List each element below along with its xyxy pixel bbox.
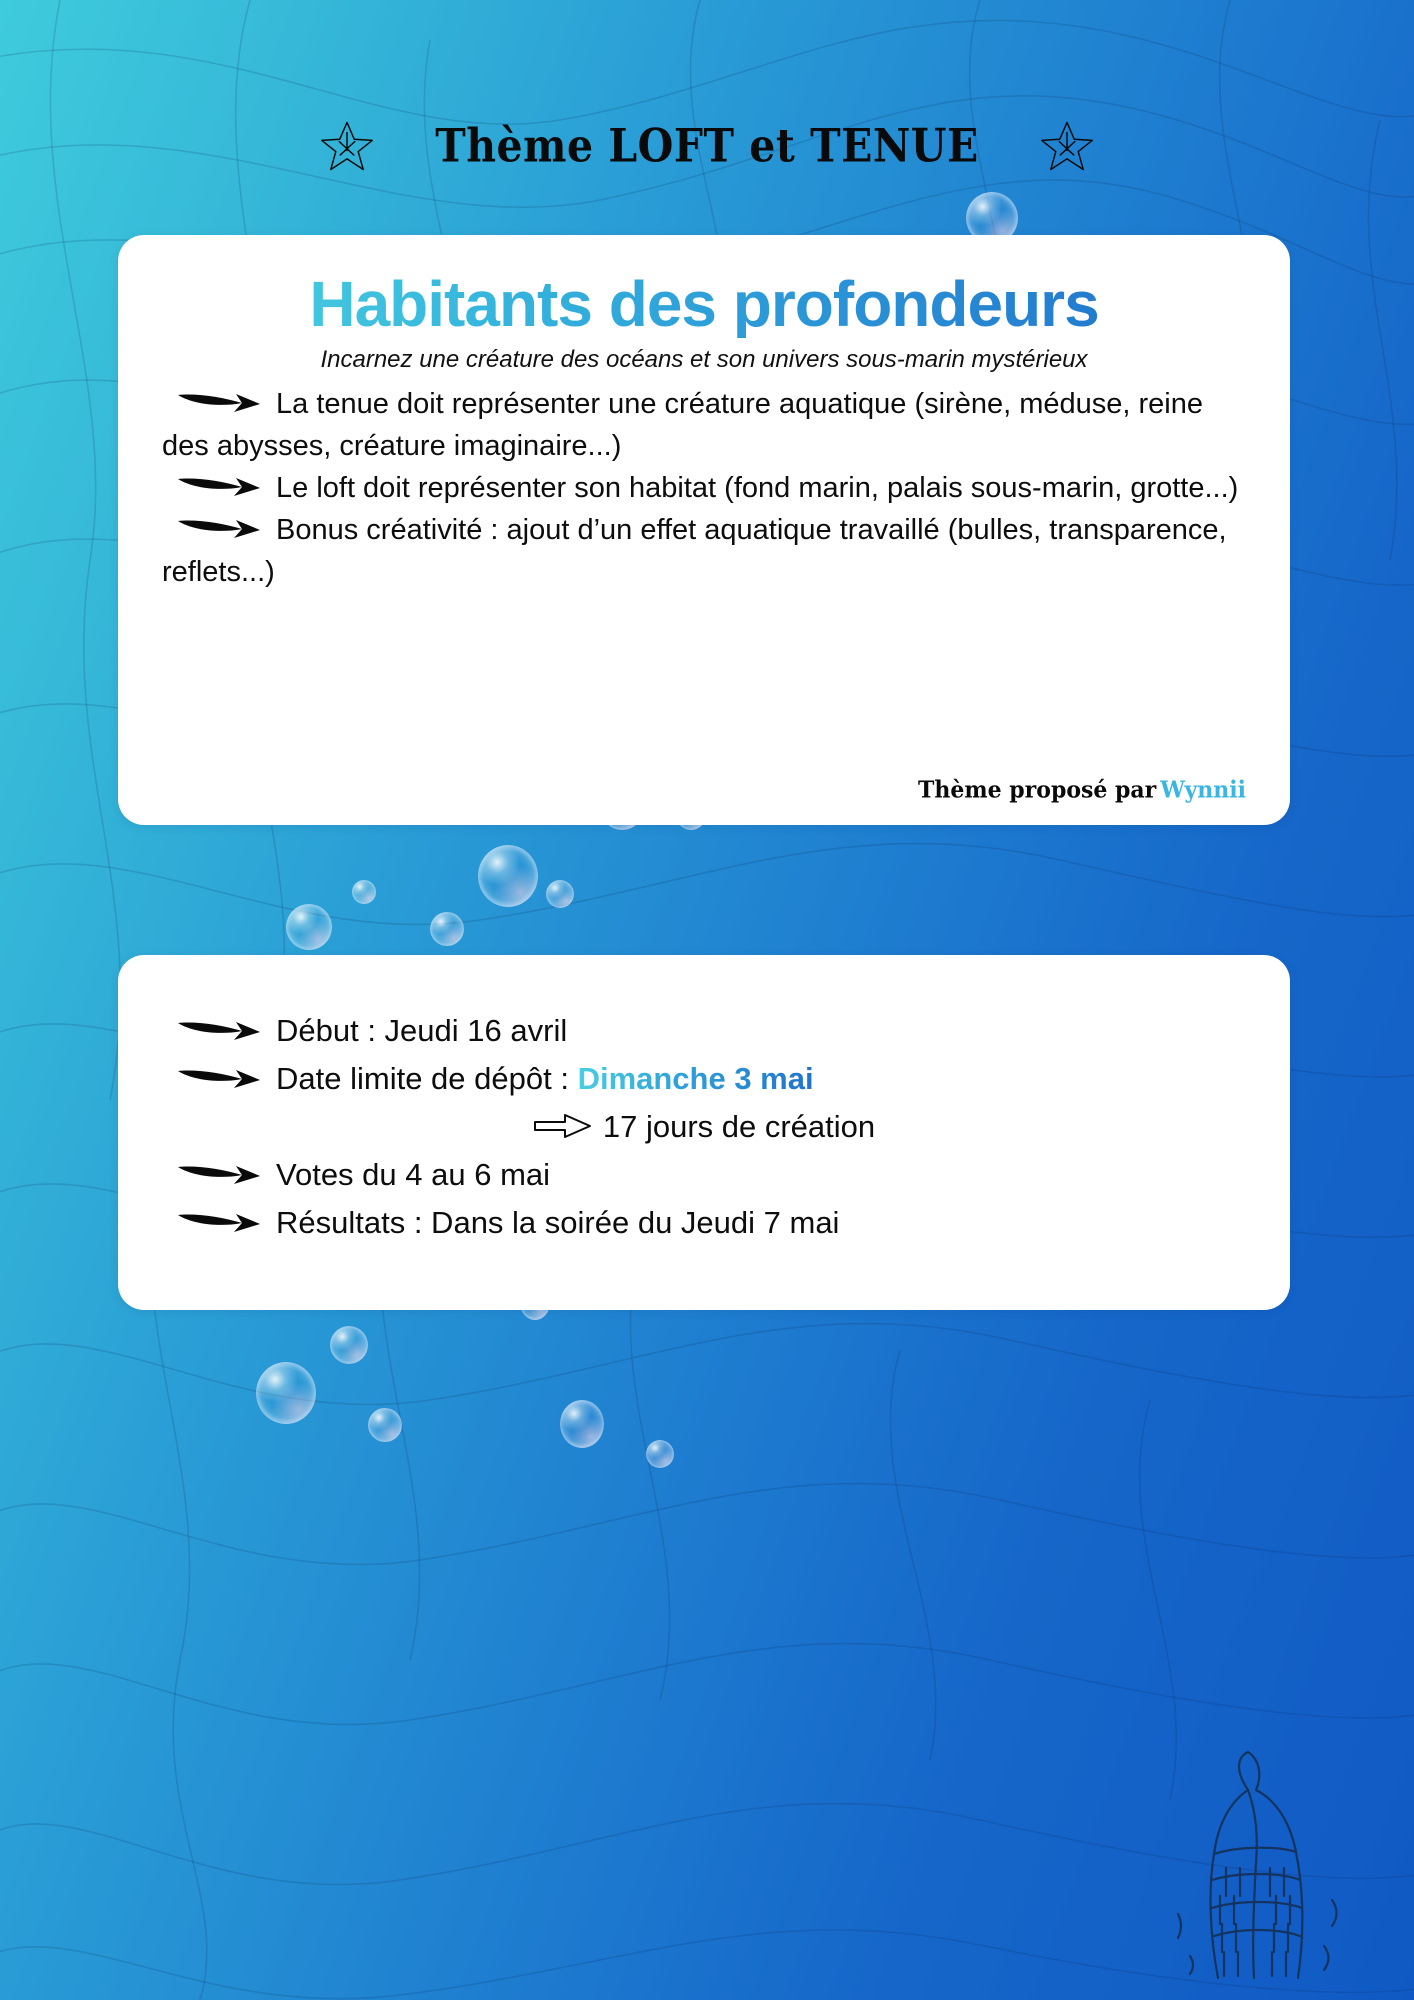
poster-header: Thème LOFT et TENUE [0,118,1414,174]
theme-credit: Thème proposé parWynnii [918,776,1246,804]
dates-list: Début : Jeudi 16 avril Date limite de dé… [162,1007,1246,1247]
list-item-text: Date limite de dépôt : [276,1061,578,1096]
deadline-highlight: Dimanche 3 mai [578,1061,814,1096]
arrow-right-icon [176,473,268,499]
list-item-text: Début : Jeudi 16 avril [276,1013,567,1048]
bubble-icon [478,845,538,907]
arrow-right-icon [176,1065,268,1091]
list-item: Début : Jeudi 16 avril [162,1007,1246,1055]
list-item-text: Bonus créativité : ajout d’un effet aqua… [162,514,1227,588]
dates-subnote: 17 jours de création [162,1103,1246,1151]
bubble-icon [430,912,464,946]
credit-author: Wynnii [1160,776,1246,804]
list-item-text: La tenue doit représenter une créature a… [162,388,1203,462]
starfish-icon [1039,118,1095,174]
bubble-icon [646,1440,674,1468]
arrow-right-icon [176,389,268,415]
bubble-icon [286,904,332,950]
list-item: Le loft doit représenter son habitat (fo… [162,467,1246,509]
arrow-right-icon [176,1017,268,1043]
theme-subtitle: Incarnez une créature des océans et son … [289,344,1119,376]
list-item: Date limite de dépôt : Dimanche 3 mai [162,1055,1246,1103]
page-title: Thème LOFT et TENUE [435,119,979,173]
mermaid-tail-icon [1164,1750,1354,1980]
bubble-icon [368,1408,402,1442]
starfish-icon [319,118,375,174]
list-item: Votes du 4 au 6 mai [162,1151,1246,1199]
list-item-text: Votes du 4 au 6 mai [276,1157,550,1192]
theme-card: Habitants des profondeurs Incarnez une c… [118,235,1290,825]
theme-title: Habitants des profondeurs [162,271,1246,338]
dates-subnote-text: 17 jours de création [603,1109,875,1144]
bubble-icon [330,1326,368,1364]
arrow-right-hollow-icon [533,1112,593,1140]
list-item: Bonus créativité : ajout d’un effet aqua… [162,509,1246,593]
theme-bullet-list: La tenue doit représenter une créature a… [162,383,1246,593]
bubble-icon [546,880,574,908]
arrow-right-icon [176,515,268,541]
dates-card: Début : Jeudi 16 avril Date limite de dé… [118,955,1290,1310]
bubble-icon [560,1400,604,1448]
list-item: Résultats : Dans la soirée du Jeudi 7 ma… [162,1199,1246,1247]
bubble-icon [256,1362,316,1424]
arrow-right-icon [176,1209,268,1235]
arrow-right-icon [176,1161,268,1187]
bubble-icon [352,880,376,904]
list-item-text: Le loft doit représenter son habitat (fo… [276,472,1238,504]
list-item: La tenue doit représenter une créature a… [162,383,1246,467]
credit-prefix: Thème proposé par [918,776,1156,804]
list-item-text: Résultats : Dans la soirée du Jeudi 7 ma… [276,1205,839,1240]
